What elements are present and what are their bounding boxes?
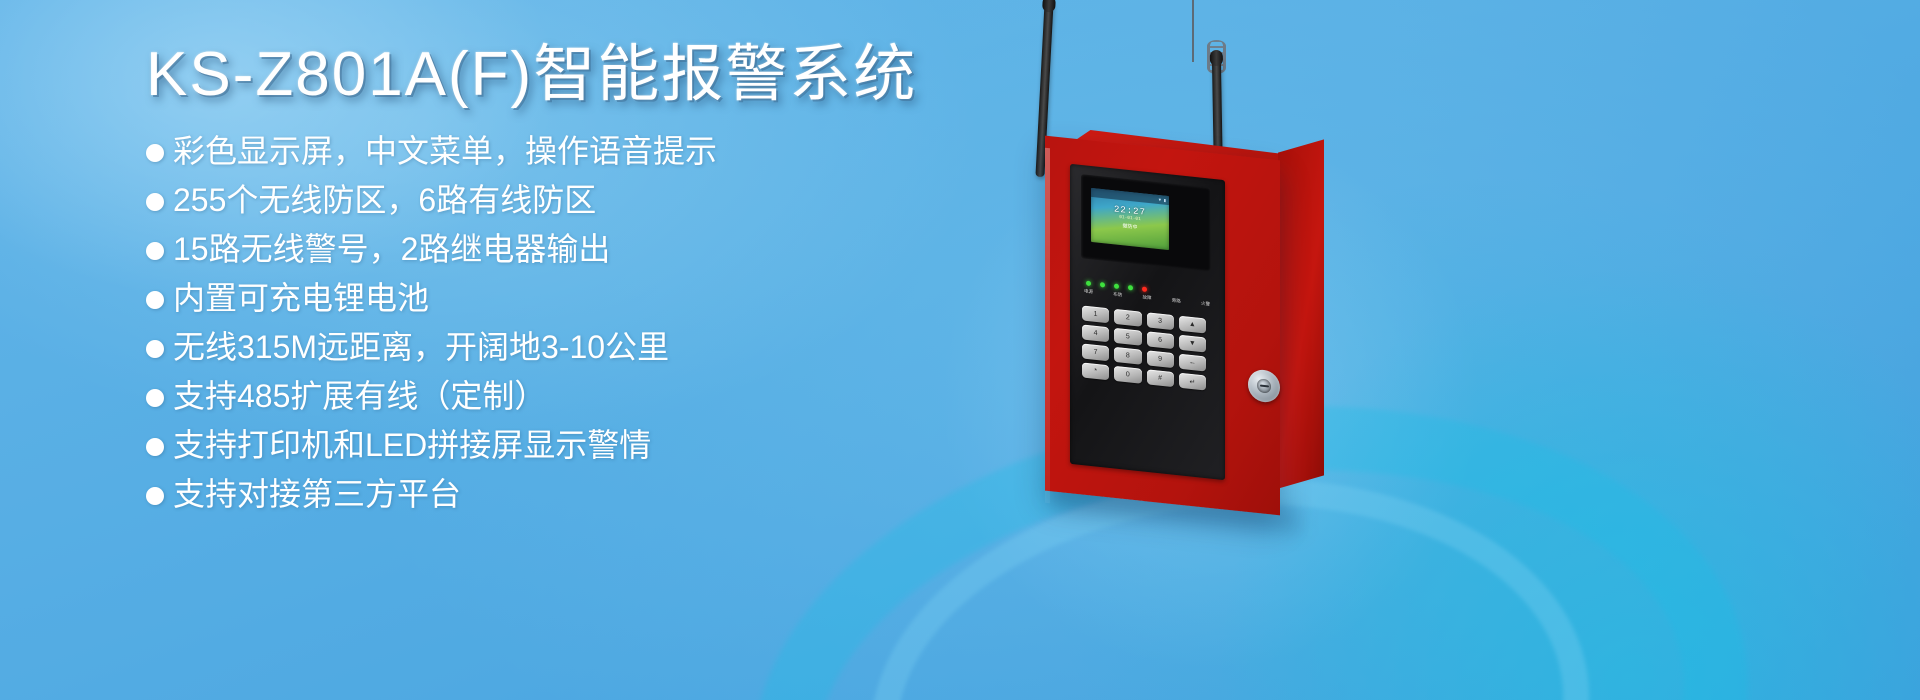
antenna-whip-wire	[1192, 0, 1194, 62]
bullet-icon	[146, 438, 164, 456]
key-up[interactable]: ▲	[1179, 316, 1206, 334]
product-image-alarm-panel: ▼ ▮ 22:27 01-01-01 撤防中 电源 布防 故障 旁路 火警 1 …	[960, 0, 1920, 700]
led-arm	[1100, 282, 1105, 288]
led-label-arm: 布防	[1113, 291, 1122, 298]
led-bypass	[1128, 285, 1133, 291]
key-3[interactable]: 3	[1147, 312, 1174, 330]
list-item-label: 支持打印机和LED拼接屏显示警情	[173, 429, 651, 461]
led-alarm	[1142, 286, 1147, 292]
led-label-fault: 故障	[1143, 295, 1152, 302]
list-item-label: 彩色显示屏，中文菜单，操作语音提示	[173, 135, 717, 167]
bullet-icon	[146, 389, 164, 407]
key-9[interactable]: 9	[1147, 350, 1174, 368]
bullet-icon	[146, 487, 164, 505]
list-item: 彩色显示屏，中文菜单，操作语音提示	[146, 135, 976, 167]
list-item: 内置可充电锂电池	[146, 282, 976, 314]
battery-icon: ▮	[1164, 198, 1166, 203]
led-label-alarm: 火警	[1201, 301, 1210, 308]
banner-text-block: KS-Z801A(F)智能报警系统 彩色显示屏，中文菜单，操作语音提示 255个…	[146, 42, 976, 527]
list-item: 255个无线防区，6路有线防区	[146, 184, 976, 216]
led-label-bypass: 旁路	[1172, 298, 1181, 305]
list-item-label: 支持对接第三方平台	[173, 478, 461, 510]
key-2[interactable]: 2	[1114, 309, 1141, 327]
key-1[interactable]: 1	[1082, 305, 1109, 323]
key-7[interactable]: 7	[1082, 343, 1109, 361]
list-item: 15路无线警号，2路继电器输出	[146, 233, 976, 265]
signal-icon: ▼	[1158, 197, 1162, 202]
enclosure-side-face	[1278, 139, 1324, 488]
led-label-power: 电源	[1084, 288, 1093, 295]
led-power	[1086, 281, 1091, 287]
bullet-icon	[146, 144, 164, 162]
feature-list: 彩色显示屏，中文菜单，操作语音提示 255个无线防区，6路有线防区 15路无线警…	[146, 135, 976, 510]
key-back[interactable]: ←	[1179, 354, 1206, 372]
numeric-keypad[interactable]: 1 2 3 ▲ 4 5 6 ▼ 7 8 9 ← * 0 # ↵	[1082, 305, 1206, 390]
bullet-icon	[146, 340, 164, 358]
list-item: 支持对接第三方平台	[146, 478, 976, 510]
key-5[interactable]: 5	[1114, 328, 1141, 346]
key-8[interactable]: 8	[1114, 347, 1141, 365]
enclosure-edge-highlight	[1045, 148, 1050, 504]
key-4[interactable]: 4	[1082, 324, 1109, 342]
key-0[interactable]: 0	[1114, 366, 1141, 384]
list-item-label: 255个无线防区，6路有线防区	[173, 184, 596, 216]
page-title: KS-Z801A(F)智能报警系统	[146, 42, 976, 107]
led-fault	[1114, 284, 1119, 290]
list-item-label: 无线315M远距离，开阔地3-10公里	[173, 331, 669, 363]
list-item-label: 支持485扩展有线（定制）	[173, 380, 546, 412]
list-item: 支持485扩展有线（定制）	[146, 380, 976, 412]
lcd-screen: ▼ ▮ 22:27 01-01-01 撤防中	[1091, 188, 1169, 250]
key-enter[interactable]: ↵	[1179, 373, 1206, 391]
list-item-label: 15路无线警号，2路继电器输出	[173, 233, 610, 265]
key-down[interactable]: ▼	[1179, 335, 1206, 353]
list-item: 无线315M远距离，开阔地3-10公里	[146, 331, 976, 363]
lock-keyhole-icon	[1260, 385, 1269, 388]
key-hash[interactable]: #	[1147, 369, 1174, 387]
bullet-icon	[146, 242, 164, 260]
list-item: 支持打印机和LED拼接屏显示警情	[146, 429, 976, 461]
list-item-label: 内置可充电锂电池	[173, 282, 429, 314]
key-6[interactable]: 6	[1147, 331, 1174, 349]
bullet-icon	[146, 291, 164, 309]
bullet-icon	[146, 193, 164, 211]
key-star[interactable]: *	[1082, 362, 1109, 380]
promo-banner: KS-Z801A(F)智能报警系统 彩色显示屏，中文菜单，操作语音提示 255个…	[0, 0, 1920, 700]
